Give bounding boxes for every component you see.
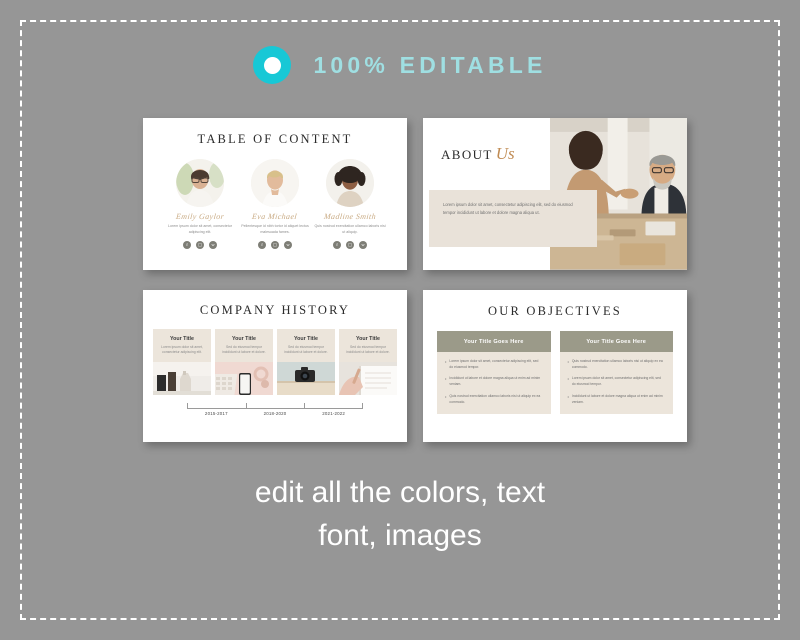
about-title: ABOUTUs [441,144,515,164]
history-card-body: Sed do eiusmod tempor incididunt ut labo… [345,345,391,356]
history-card-title: Your Title [345,336,391,342]
history-card-title: Your Title [221,336,267,342]
toc-person[interactable]: Emily Gaylor Lorem ipsum dolor sit amet,… [163,159,237,249]
person-name: Eva Michael [252,212,298,221]
timeline-label: 2021-2022 [304,411,363,416]
avatar [251,159,299,207]
twitter-icon[interactable]: w [359,241,367,249]
person-name: Emily Gaylor [175,212,224,221]
instagram-icon[interactable]: ▢ [271,241,279,249]
footer-caption: edit all the colors, text font, images [0,472,800,557]
objectives-list-item: • Incididunt ut labore et dolore magna a… [445,376,543,388]
bullet-icon: • [445,376,446,388]
history-timeline: 2015-2017 2018-2020 2021-2022 [187,400,363,420]
bullet-icon: • [445,394,446,406]
history-card[interactable]: Your Title Sed do eiusmod tempor incidid… [277,329,335,395]
slide-company-history[interactable]: COMPANY HISTORY Your Title Lorem ipsum d… [143,290,407,442]
timeline-label: 2018-2020 [246,411,305,416]
objectives-column[interactable]: Your Title Goes Here • Quis nostrud exer… [560,331,674,414]
facebook-icon[interactable]: f [183,241,191,249]
footer-caption-line1: edit all the colors, text [0,472,800,515]
objectives-list-item: • Quis nostrud exercitation ullamco labo… [445,394,543,406]
objectives-column-heading: Your Title Goes Here [437,331,551,352]
objectives-list-item: • Incididunt ut labore et dolore magna a… [568,394,666,406]
instagram-icon[interactable]: ▢ [346,241,354,249]
history-card-image [215,362,273,395]
bullet-icon: • [568,359,569,371]
objectives-list-item: • Lorem ipsum dolor sit amet, consectetu… [568,376,666,388]
history-card-body: Sed do eiusmod tempor incididunt ut labo… [283,345,329,356]
twitter-icon[interactable]: w [209,241,217,249]
about-title-script: Us [496,144,515,163]
facebook-icon[interactable]: f [333,241,341,249]
person-description: Quis nostrud exercitation ullamco labori… [313,224,387,235]
twitter-icon[interactable]: w [284,241,292,249]
circle-dot-icon [253,46,291,84]
history-card[interactable]: Your Title Sed do eiusmod tempor incidid… [215,329,273,395]
bullet-icon: • [568,394,569,406]
toc-title: TABLE OF CONTENT [155,132,395,147]
objectives-title: OUR OBJECTIVES [437,304,673,319]
social-links[interactable]: f ▢ w [183,241,217,249]
history-card-image [153,362,211,395]
timeline-label: 2015-2017 [187,411,246,416]
objectives-column-heading: Your Title Goes Here [560,331,674,352]
instagram-icon[interactable]: ▢ [196,241,204,249]
editable-badge: 100% EDITABLE [0,46,800,84]
facebook-icon[interactable]: f [258,241,266,249]
person-description: Lorem ipsum dolor sit amet, consectetur … [163,224,237,235]
avatar [176,159,224,207]
person-name: Madline Smith [323,212,376,221]
history-card-image [277,362,335,395]
editable-badge-label: 100% EDITABLE [313,52,546,79]
history-card[interactable]: Your Title Sed do eiusmod tempor incidid… [339,329,397,395]
history-title: COMPANY HISTORY [153,303,397,318]
bullet-icon: • [568,376,569,388]
footer-caption-line2: font, images [0,515,800,558]
history-card-image [339,362,397,395]
toc-person[interactable]: Madline Smith Quis nostrud exercitation … [313,159,387,249]
history-card-body: Lorem ipsum dolor sit amet, consectetur … [159,345,205,356]
social-links[interactable]: f ▢ w [258,241,292,249]
slide-table-of-content[interactable]: TABLE OF CONTENT Emily Gaylor [143,118,407,270]
social-links[interactable]: f ▢ w [333,241,367,249]
history-card-title: Your Title [283,336,329,342]
history-card[interactable]: Your Title Lorem ipsum dolor sit amet, c… [153,329,211,395]
history-card-body: Sed do eiusmod tempor incididunt ut labo… [221,345,267,356]
objectives-column[interactable]: Your Title Goes Here • Lorem ipsum dolor… [437,331,551,414]
bullet-icon: • [445,359,446,371]
person-description: Pellentesque id nibh tortor id aliquet l… [238,224,312,235]
objectives-list-item: • Quis nostrud exercitation ullamco labo… [568,359,666,371]
about-text-box: Lorem ipsum dolor sit amet, consectetur … [429,190,597,247]
objectives-list-item: • Lorem ipsum dolor sit amet, consectetu… [445,359,543,371]
avatar [326,159,374,207]
history-card-title: Your Title [159,336,205,342]
toc-person[interactable]: Eva Michael Pellentesque id nibh tortor … [238,159,312,249]
slide-our-objectives[interactable]: OUR OBJECTIVES Your Title Goes Here • Lo… [423,290,687,442]
about-title-main: ABOUT [441,147,493,162]
slide-about-us[interactable]: ABOUTUs [423,118,687,270]
